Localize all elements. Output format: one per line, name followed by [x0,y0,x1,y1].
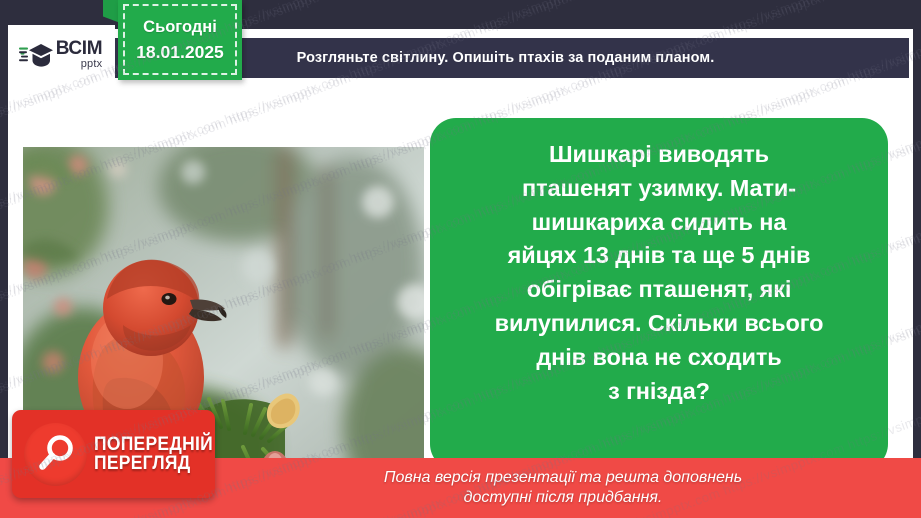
task-line-3: шишкариха сидить на [532,209,787,235]
purchase-notice-line-2: доступні після придбання. [464,489,663,506]
date-badge-label: Сьогодні [143,18,217,37]
task-line-2: пташенят узимку. Мати- [522,175,796,201]
task-line-6: вилупилися. Скільки всього [495,310,824,336]
preview-badge[interactable]: ПОПЕРЕДНІЙ ПЕРЕГЛЯД [12,410,215,498]
preview-badge-line-1: ПОПЕРЕДНІЙ [94,435,213,454]
brand-logo: ВСІМ pptx [8,25,115,84]
logo-title: ВСІМ [56,39,103,58]
task-text: Шишкарі виводять пташенят узимку. Мати- … [452,138,866,409]
task-line-5: обігріває пташенят, які [527,276,792,302]
task-line-7: днів вона не сходить [536,344,781,370]
task-text-box: Шишкарі виводять пташенят узимку. Мати- … [430,118,888,470]
task-line-8: з гнізда? [608,378,710,404]
purchase-notice-text: Повна версія презентації та решта доповн… [215,468,911,508]
graduation-cap-icon [19,40,53,70]
today-date-badge: Сьогодні 18.01.2025 [118,0,242,80]
task-line-1: Шишкарі виводять [549,141,769,167]
task-line-4: яйцях 13 днів та ще 5 днів [508,242,811,268]
magnifier-icon [24,423,87,486]
logo-subtitle: pptx [56,59,103,70]
presentation-slide: Розгляньте світлину. Опишіть птахів за п… [0,0,921,518]
preview-badge-line-2: ПЕРЕГЛЯД [94,454,213,473]
date-badge-value: 18.01.2025 [136,42,224,63]
purchase-notice-line-1: Повна версія презентації та решта доповн… [384,469,742,486]
